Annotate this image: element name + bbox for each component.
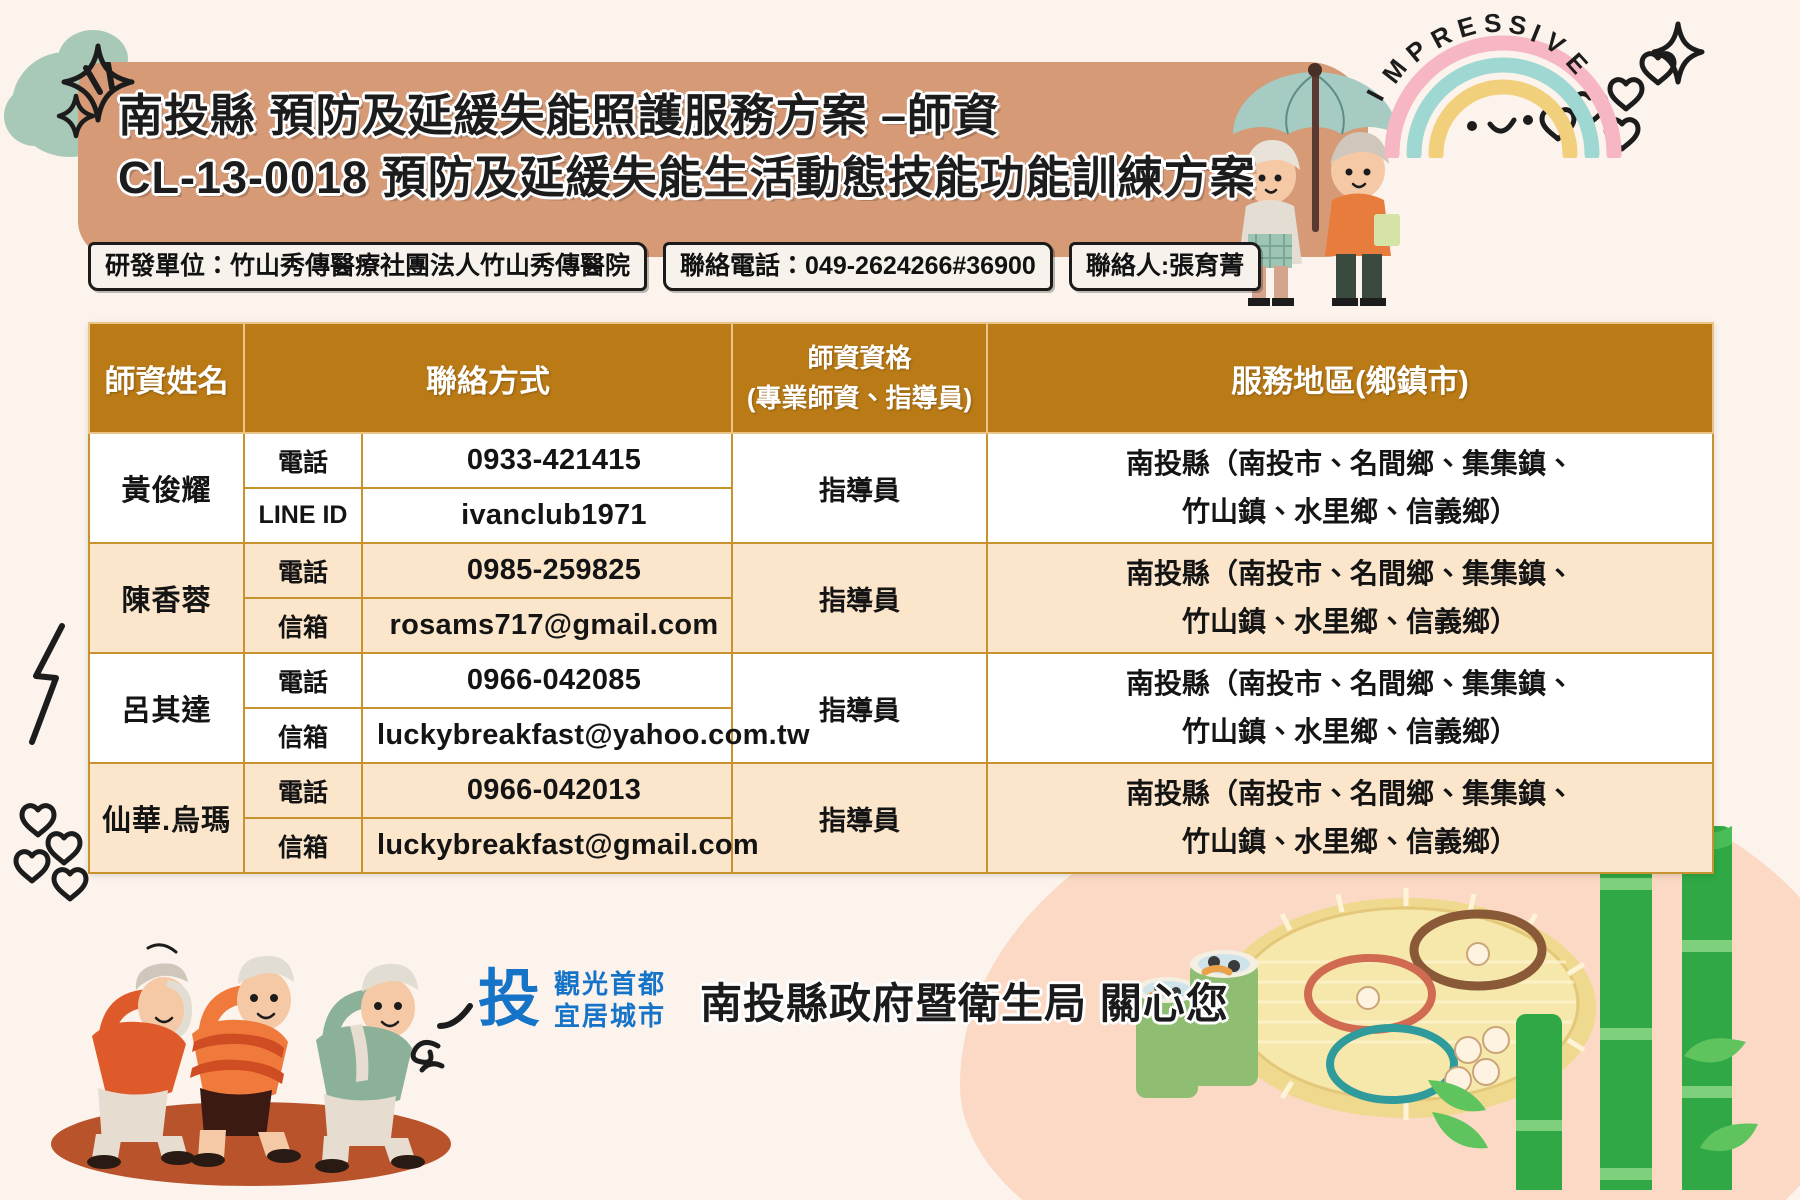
contact-type: LINE ID [244,488,362,543]
service-area-line-1: 南投縣（南投市、名間鄉、集集鎮、 [1002,770,1698,818]
developer-unit-chip: 研發單位：竹山秀傳醫療社團法人竹山秀傳醫院 [88,242,647,291]
impressive-letter: V [1539,26,1571,61]
slogan-line-2: 宜居城市 [554,1000,666,1032]
impressive-letter: P [1400,34,1433,69]
service-area-line-1: 南投縣（南投市、名間鄉、集集鎮、 [1002,660,1698,708]
instructor-qualification: 指導員 [732,433,987,543]
contact-value: luckybreakfast@yahoo.com.tw [362,708,732,763]
instructor-name: 黃俊耀 [89,433,244,543]
service-area-line-2: 竹山鎮、水里鄉、信義鄉） [1002,488,1698,536]
contact-value: 0966-042013 [362,763,732,818]
table-row: 仙華.烏瑪 電話 0966-042013 指導員 南投縣（南投市、名間鄉、集集鎮… [89,763,1713,818]
contact-person-chip: 聯絡人:張育菁 [1069,242,1261,291]
column-header-qualification: 師資資格 (專業師資、指導員) [732,323,987,433]
contact-phone-chip: 聯絡電話：049-2624266#36900 [663,242,1053,291]
instructor-name: 陳香蓉 [89,543,244,653]
contact-type: 信箱 [244,818,362,873]
contact-value: luckybreakfast@gmail.com [362,818,732,873]
contact-type: 信箱 [244,598,362,653]
column-header-name: 師資姓名 [89,323,244,433]
instructor-name: 呂其達 [89,653,244,763]
title-line-2: CL-13-0018 預防及延緩失能生活動態技能功能訓練方案 [118,146,1348,210]
table-row: 呂其達 電話 0966-042085 指導員 南投縣（南投市、名間鄉、集集鎮、 … [89,653,1713,708]
instructor-name: 仙華.烏瑪 [89,763,244,873]
impressive-letter: S [1483,7,1502,39]
exercising-elders-illustration [36,928,466,1188]
slogan-line-1: 觀光首都 [554,968,666,1000]
contact-type: 信箱 [244,708,362,763]
contact-value: ivanclub1971 [362,488,732,543]
instructor-roster-table: 師資姓名 聯絡方式 師資資格 (專業師資、指導員) 服務地區(鄉鎮市) 黃俊耀 … [88,322,1712,874]
service-area: 南投縣（南投市、名間鄉、集集鎮、 竹山鎮、水里鄉、信義鄉） [987,433,1713,543]
service-area-line-2: 竹山鎮、水里鄉、信義鄉） [1002,598,1698,646]
info-chip-row: 研發單位：竹山秀傳醫療社團法人竹山秀傳醫院 聯絡電話：049-2624266#3… [88,242,1261,291]
poster-title: 南投縣 預防及延緩失能照護服務方案 –師資 CL-13-0018 預防及延緩失能… [118,86,1348,210]
qualification-header-line-2: (專業師資、指導員) [739,378,980,418]
column-header-contact: 聯絡方式 [244,323,732,433]
title-line-1: 南投縣 預防及延緩失能照護服務方案 –師資 [118,86,1348,146]
table-header-row: 師資姓名 聯絡方式 師資資格 (專業師資、指導員) 服務地區(鄉鎮市) [89,323,1713,433]
service-area-line-2: 竹山鎮、水里鄉、信義鄉） [1002,818,1698,866]
contact-type: 電話 [244,653,362,708]
lightning-doodle-icon [22,620,78,750]
service-area: 南投縣（南投市、名間鄉、集集鎮、 竹山鎮、水里鄉、信義鄉） [987,653,1713,763]
impressive-letter: E [1559,47,1594,81]
nantou-logo-slogan: 觀光首都 宜居城市 [554,968,666,1032]
contact-value: 0985-259825 [362,543,732,598]
contact-type: 電話 [244,433,362,488]
column-header-area: 服務地區(鄉鎮市) [987,323,1713,433]
service-area-line-2: 竹山鎮、水里鄉、信義鄉） [1002,708,1698,756]
service-area-line-1: 南投縣（南投市、名間鄉、集集鎮、 [1002,550,1698,598]
government-statement: 南投縣政府暨衛生局 關心您 [700,970,1229,1031]
service-area: 南投縣（南投市、名間鄉、集集鎮、 竹山鎮、水里鄉、信義鄉） [987,763,1713,873]
contact-value: 0933-421415 [362,433,732,488]
service-area-line-1: 南投縣（南投市、名間鄉、集集鎮、 [1002,440,1698,488]
contact-value: rosams717@gmail.com [362,598,732,653]
poster-canvas: I M P R E S S I V E [0,0,1800,1200]
impressive-wordmark: I M P R E S S I V E [1370,2,1630,132]
impressive-letter: E [1454,10,1479,45]
footer-bar: 投 觀光首都 宜居城市 南投縣政府暨衛生局 關心您 [478,968,1229,1032]
contact-type: 電話 [244,763,362,818]
service-area: 南投縣（南投市、名間鄉、集集鎮、 竹山鎮、水里鄉、信義鄉） [987,543,1713,653]
impressive-letter: R [1426,19,1457,55]
table-row: 陳香蓉 電話 0985-259825 指導員 南投縣（南投市、名間鄉、集集鎮、 … [89,543,1713,598]
contact-value: 0966-042085 [362,653,732,708]
instructor-qualification: 指導員 [732,543,987,653]
qualification-header-line-1: 師資資格 [739,338,980,378]
table-row: 黃俊耀 電話 0933-421415 指導員 南投縣（南投市、名間鄉、集集鎮、 … [89,433,1713,488]
impressive-letter: M [1376,53,1414,89]
contact-type: 電話 [244,543,362,598]
nantou-logo-mark: 投 [478,969,538,1031]
instructor-qualification: 指導員 [732,763,987,873]
impressive-letter: S [1506,9,1528,43]
